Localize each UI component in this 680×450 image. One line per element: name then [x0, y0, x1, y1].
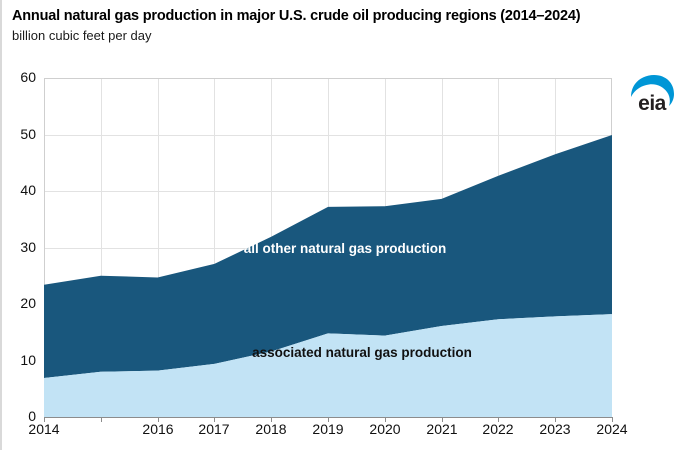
x-tick-2023 — [555, 417, 556, 422]
x-tick-label-2024: 2024 — [582, 421, 642, 437]
chart-subtitle: billion cubic feet per day — [12, 28, 672, 43]
x-tick-2017 — [214, 417, 215, 422]
x-tick-2016 — [158, 417, 159, 422]
x-tick-label-2019: 2019 — [298, 421, 358, 437]
x-tick-label-2021: 2021 — [412, 421, 472, 437]
chart-figure: Annual natural gas production in major U… — [0, 0, 680, 450]
series-label-associated: associated natural gas production — [252, 345, 472, 360]
x-tick-2019 — [328, 417, 329, 422]
y-tick-label-20: 20 — [2, 295, 36, 311]
x-tick-label-2017: 2017 — [184, 421, 244, 437]
x-tick-label-2023: 2023 — [525, 421, 585, 437]
x-tick-label-2020: 2020 — [355, 421, 415, 437]
x-tick-2018 — [271, 417, 272, 422]
x-tick-2024 — [612, 417, 613, 422]
x-tick-2020 — [385, 417, 386, 422]
x-tick-2014 — [44, 417, 45, 422]
y-tick-label-50: 50 — [2, 126, 36, 142]
series-label-all-other: all other natural gas production — [244, 241, 447, 256]
x-tick-2022 — [498, 417, 499, 422]
y-tick-label-10: 10 — [2, 352, 36, 368]
y-tick-label-60: 60 — [2, 69, 36, 85]
x-tick-label-2014: 2014 — [14, 421, 74, 437]
x-tick-label-2016: 2016 — [128, 421, 188, 437]
y-tick-label-40: 40 — [2, 182, 36, 198]
x-tick-2015 — [101, 417, 102, 422]
x-tick-label-2022: 2022 — [468, 421, 528, 437]
x-tick-label-2018: 2018 — [241, 421, 301, 437]
svg-text:eia: eia — [638, 92, 667, 115]
y-tick-label-30: 30 — [2, 239, 36, 255]
chart-title: Annual natural gas production in major U… — [12, 8, 672, 24]
x-tick-2021 — [442, 417, 443, 422]
eia-logo: eia — [628, 74, 676, 116]
